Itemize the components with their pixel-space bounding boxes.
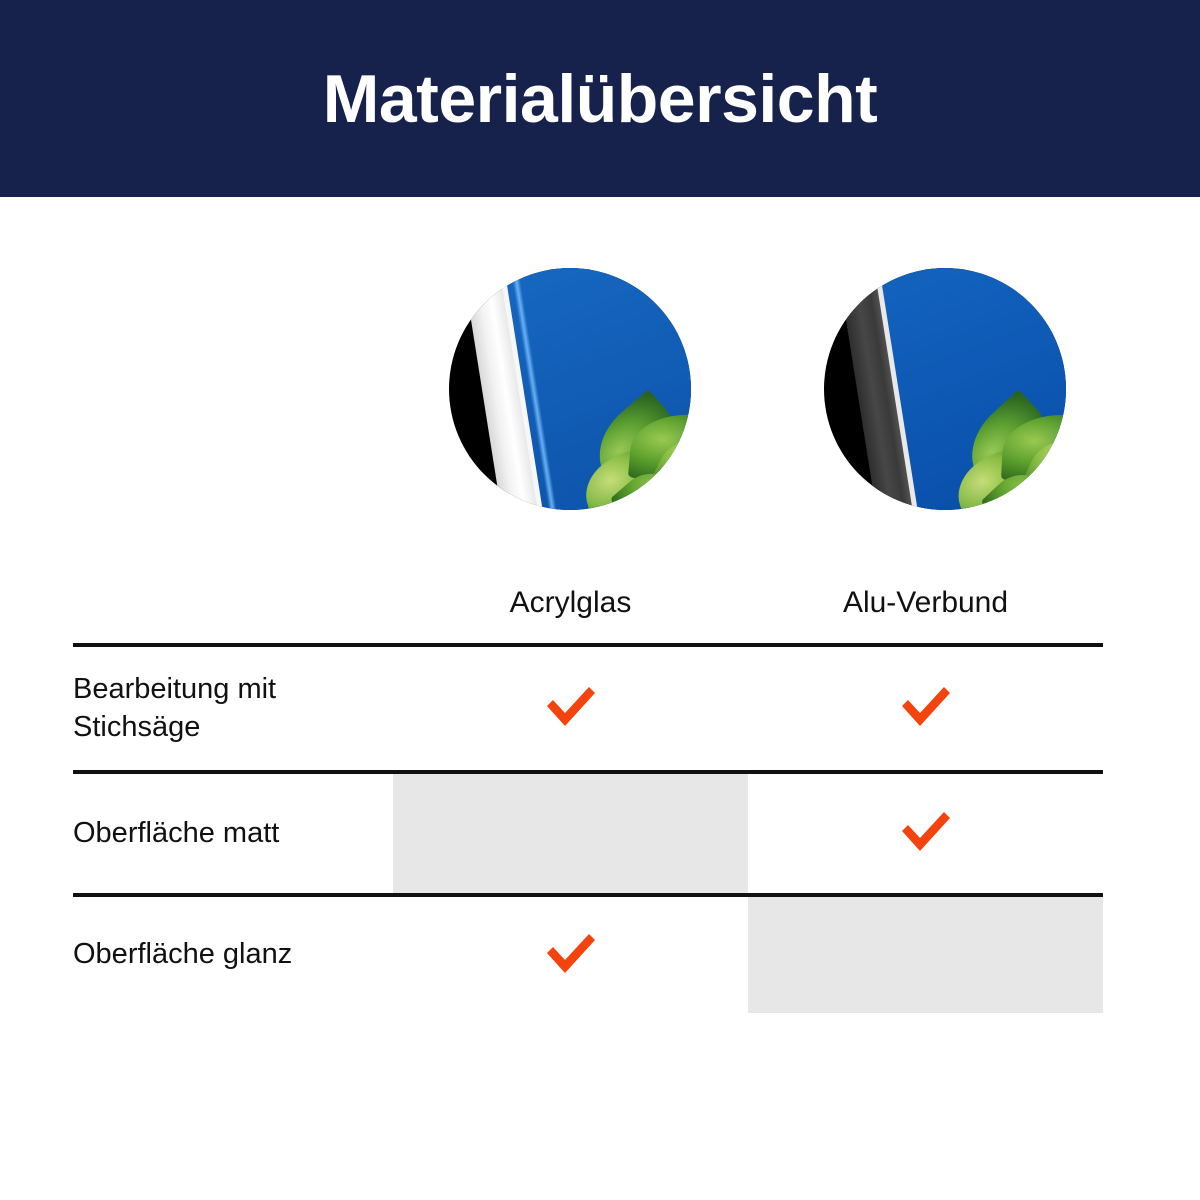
cell-matt-acrylglas bbox=[393, 774, 748, 893]
material-comparison-table: Acrylglas Alu-Verbund Bearbeitung mit St… bbox=[73, 562, 1103, 1013]
table-row: Oberfläche matt bbox=[73, 774, 1103, 893]
check-icon bbox=[544, 684, 598, 728]
header-label-spacer bbox=[73, 562, 393, 643]
check-icon bbox=[544, 931, 598, 975]
row-label-line-1: Bearbeitung mit bbox=[73, 673, 276, 705]
column-header-acrylglas: Acrylglas bbox=[393, 562, 748, 643]
table-row: Oberfläche glanz bbox=[73, 897, 1103, 1013]
sample-image-acrylglas bbox=[449, 268, 691, 510]
page-title: Materialübersicht bbox=[323, 65, 878, 133]
row-label-oberflaeche-matt: Oberfläche matt bbox=[73, 774, 393, 893]
column-header-alu-verbund: Alu-Verbund bbox=[748, 562, 1103, 643]
check-icon bbox=[899, 684, 953, 728]
cell-bearbeitung-acrylglas bbox=[393, 647, 748, 770]
cell-bearbeitung-alu-verbund bbox=[748, 647, 1103, 770]
row-label-line-2: Stichsäge bbox=[73, 711, 200, 743]
acrylglas-slab bbox=[449, 268, 691, 510]
comparison-table-element: Acrylglas Alu-Verbund Bearbeitung mit St… bbox=[73, 562, 1103, 1013]
check-icon bbox=[899, 809, 953, 853]
material-sample-images bbox=[0, 268, 1200, 510]
sample-image-alu-verbund bbox=[824, 268, 1066, 510]
row-label-bearbeitung-mit-stichsaege: Bearbeitung mit Stichsäge bbox=[73, 647, 393, 770]
table-row: Bearbeitung mit Stichsäge bbox=[73, 647, 1103, 770]
cell-glanz-alu-verbund bbox=[748, 897, 1103, 1013]
cell-glanz-acrylglas bbox=[393, 897, 748, 1013]
cell-matt-alu-verbund bbox=[748, 774, 1103, 893]
row-label-oberflaeche-glanz: Oberfläche glanz bbox=[73, 897, 393, 1013]
alu-verbund-slab bbox=[824, 268, 1066, 510]
header-bar: Materialübersicht bbox=[0, 0, 1200, 197]
table-header-row: Acrylglas Alu-Verbund bbox=[73, 562, 1103, 643]
